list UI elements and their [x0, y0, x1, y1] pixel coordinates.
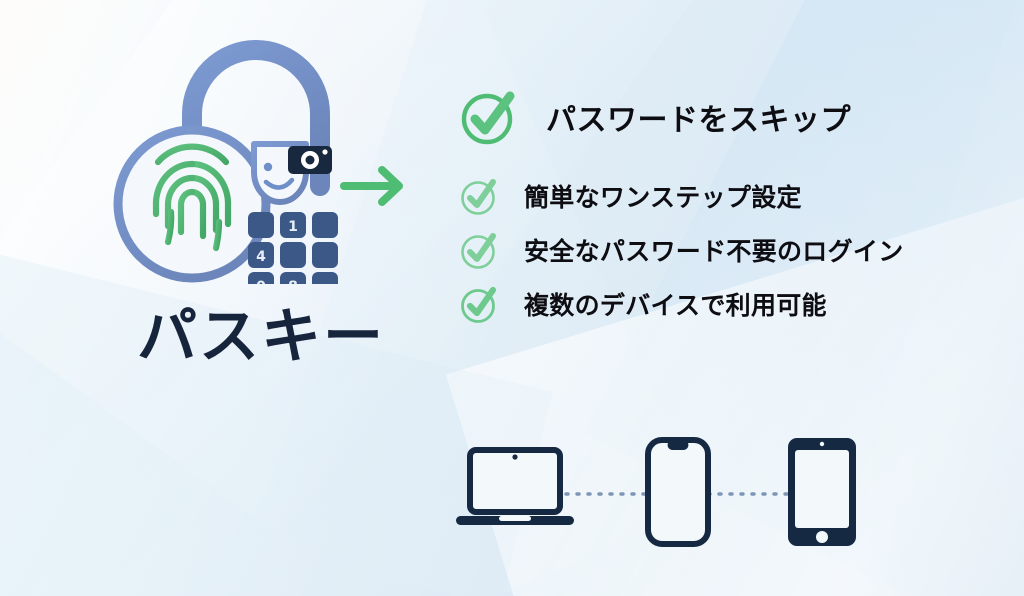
- feature-item-multi-device: 複数のデバイスで利用可能: [458, 282, 978, 326]
- camera-icon: [288, 146, 332, 174]
- feature-item-secure-passwordless-login: 安全なパスワード不要のログイン: [458, 228, 978, 272]
- feature-label: 複数のデバイスで利用可能: [524, 286, 827, 322]
- feature-item-skip-password: パスワードをスキップ: [458, 86, 978, 148]
- feature-list: パスワードをスキップ 簡単なワンステップ設定 安全なパスワード不要のログイン: [458, 86, 978, 336]
- svg-text:1: 1: [288, 219, 298, 235]
- feature-label: 簡単なワンステップ設定: [524, 178, 802, 214]
- green-check-circle-icon: [458, 282, 502, 326]
- green-check-circle-icon: [458, 228, 502, 272]
- passkey-infographic: 1 4 0 8 パスキー: [0, 0, 1024, 596]
- green-right-arrow-icon: [344, 170, 399, 202]
- green-check-circle-icon: [458, 174, 502, 218]
- feature-label: パスワードをスキップ: [546, 95, 851, 139]
- laptop-icon: [456, 450, 574, 525]
- device-sync-illustration: [452, 432, 872, 552]
- svg-text:8: 8: [288, 279, 298, 284]
- tablet-icon: [788, 438, 856, 546]
- feature-item-easy-setup: 簡単なワンステップ設定: [458, 174, 978, 218]
- keypad-icon: 1 4 0 8: [248, 212, 338, 284]
- smartphone-icon: [648, 440, 708, 544]
- page-title: パスキー: [96, 304, 426, 370]
- padlock-fingerprint-icon: 1 4 0 8: [96, 36, 416, 284]
- svg-text:4: 4: [256, 249, 266, 265]
- svg-text:0: 0: [256, 279, 266, 284]
- feature-label: 安全なパスワード不要のログイン: [524, 232, 904, 268]
- green-check-circle-icon: [458, 86, 520, 148]
